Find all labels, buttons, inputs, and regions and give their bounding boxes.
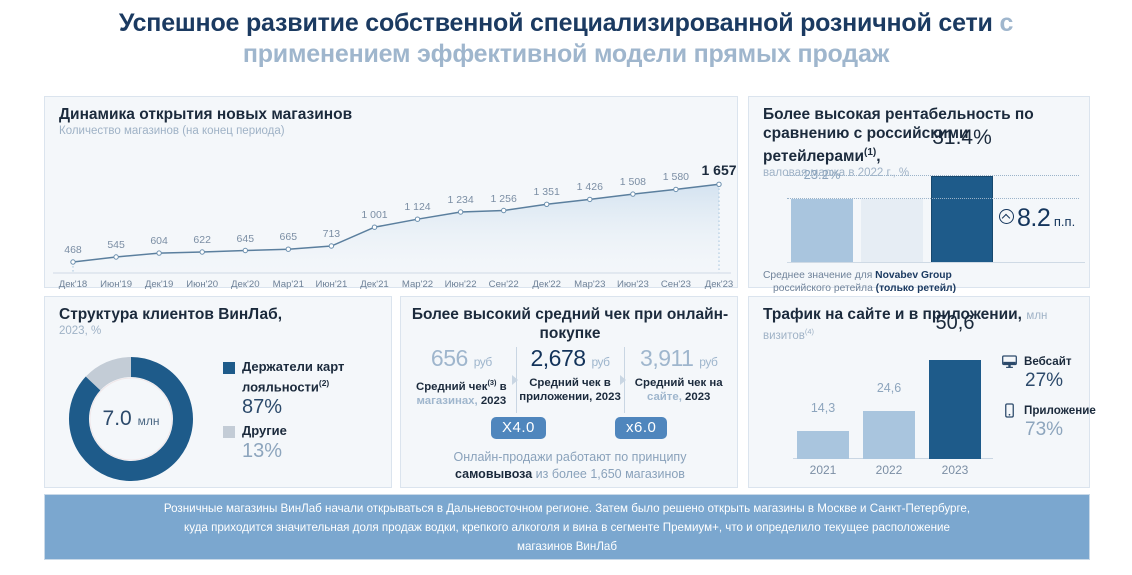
margin-bar xyxy=(791,199,853,263)
margin-axis-line xyxy=(787,262,1085,263)
monitor-icon xyxy=(1001,353,1018,370)
legend-item: Вебсайт xyxy=(1001,353,1089,370)
x-axis-tick: Дек'21 xyxy=(360,279,389,290)
line-point-label: 1 508 xyxy=(620,176,646,188)
traffic-bar-label: 24,6 xyxy=(877,381,901,395)
check-footer-b: самовывоза xyxy=(455,467,532,481)
x-axis-tick: Дек'22 xyxy=(532,279,561,290)
margin-footnote-c: (только ретейл) xyxy=(876,283,956,294)
check-column-stores: 656 руб Средний чек(3) в магазинах, 2023 xyxy=(407,345,516,408)
margin-delta: 8.2 п.п. xyxy=(999,204,1075,233)
line-point-label: 604 xyxy=(150,235,168,247)
x-axis-tick: Июн'23 xyxy=(617,279,649,290)
line-point-label: 645 xyxy=(237,233,255,245)
bottom-banner: Розничные магазины ВинЛаб начали открыва… xyxy=(44,494,1090,560)
margin-footnote-a: Среднее значение для xyxy=(763,270,875,281)
donut-center-unit: млн xyxy=(138,414,160,428)
panel-gross-margin: Более высокая рентабельность по сравнени… xyxy=(748,96,1090,288)
traffic-bar-label: 14,3 xyxy=(811,401,835,415)
line-point-label: 1 001 xyxy=(361,209,387,221)
chevron-up-circle-icon xyxy=(999,209,1014,224)
margin-bar xyxy=(931,176,993,263)
check-caption-site-c: сайте, xyxy=(647,391,685,403)
check-year-stores: 2023 xyxy=(481,395,506,407)
margin-bar-label: 31.4% xyxy=(932,126,992,150)
x-axis-tick: Сен'22 xyxy=(489,279,519,290)
check-caption-stores-b: в xyxy=(497,381,507,393)
check-multiplier-badges: X4.0 x6.0 xyxy=(407,417,733,441)
x-axis-tick: Июн'22 xyxy=(445,279,477,290)
line-point-label: 1 256 xyxy=(491,193,517,205)
average-check-header: Более высокий средний чек при онлайн-пок… xyxy=(411,305,729,343)
x-axis-tick: Дек'19 xyxy=(145,279,174,290)
check-caption-site-a: Средний чек на xyxy=(635,377,723,389)
traffic-header: Трафик на сайте и в приложении, млн визи… xyxy=(763,305,1079,344)
banner-line-2: куда приходится значительная доля продаж… xyxy=(164,518,970,537)
gross-margin-footnote: Среднее значение для Novabev Group росси… xyxy=(763,269,1081,295)
check-amount-site: 3,911 xyxy=(640,345,693,371)
x-axis-tick: Мар'21 xyxy=(273,279,304,290)
x-axis-tick: Июн'21 xyxy=(315,279,347,290)
line-point-label: 622 xyxy=(193,234,211,246)
traffic-legend-label-app: Приложение xyxy=(1024,404,1096,417)
legend-label-loyalty-1: Держатели карт xyxy=(242,359,344,374)
client-structure-header: Структура клиентов ВинЛаб, 2023, % xyxy=(59,305,282,339)
client-structure-title: Структура клиентов ВинЛаб, xyxy=(59,305,282,324)
arrow-right-icon xyxy=(620,375,626,385)
line-point-label: 1 426 xyxy=(577,181,603,193)
traffic-year-tick: 2023 xyxy=(942,463,969,477)
average-check-columns: 656 руб Средний чек(3) в магазинах, 2023… xyxy=(407,345,733,408)
panel-traffic: Трафик на сайте и в приложении, млн визи… xyxy=(748,296,1090,488)
margin-footnote-b: российского ретейла xyxy=(773,283,876,294)
average-check-footer: Онлайн-продажи работают по принципу само… xyxy=(415,449,725,483)
x-axis-tick: Дек'20 xyxy=(231,279,260,290)
store-dynamics-header: Динамика открытия новых магазинов Количе… xyxy=(59,105,352,139)
line-point-label: 1 657 xyxy=(701,162,736,178)
phone-icon xyxy=(1001,402,1018,419)
x-axis-tick: Мар'23 xyxy=(574,279,605,290)
x-axis-tick: Дек'23 xyxy=(705,279,734,290)
line-point-label: 1 351 xyxy=(534,186,560,198)
donut-center-value: 7.0 xyxy=(103,407,132,430)
legend-label-other: Другие xyxy=(242,423,287,439)
store-dynamics-chart: 4685456046226456657131 0011 1241 2341 25… xyxy=(53,145,731,277)
margin-delta-unit: п.п. xyxy=(1054,214,1075,229)
footnote-marker-1: (1) xyxy=(864,147,876,158)
check-footer-a: Онлайн-продажи работают по принципу xyxy=(454,450,687,464)
reference-line xyxy=(787,175,1079,176)
traffic-legend-value-app: 73% xyxy=(1025,419,1089,441)
badge-multiplier-app: X4.0 xyxy=(491,417,546,439)
traffic-year-labels: 202120222023 xyxy=(793,463,993,479)
line-chart-x-axis: Дек'18Июн'19Дек'19Июн'20Дек'20Мар'21Июн'… xyxy=(53,279,731,293)
legend-item: Держатели карт лояльности(2) xyxy=(223,359,383,395)
x-axis-tick: Июн'20 xyxy=(186,279,218,290)
badge-multiplier-site: x6.0 xyxy=(615,417,667,439)
client-structure-legend: Держатели карт лояльности(2) 87% Другие … xyxy=(223,359,383,467)
line-point-label: 713 xyxy=(323,228,341,240)
x-axis-tick: Дек'18 xyxy=(59,279,88,290)
line-chart-value-labels: 4685456046226456657131 0011 1241 2341 25… xyxy=(53,145,731,277)
legend-swatch-loyalty xyxy=(223,362,235,374)
panel-average-check: Более высокий средний чек при онлайн-пок… xyxy=(400,296,738,488)
line-point-label: 1 234 xyxy=(447,194,473,206)
traffic-bar xyxy=(929,360,981,459)
legend-label-loyalty-2: лояльности xyxy=(242,379,319,394)
client-structure-donut: 7.0 млн xyxy=(67,355,195,483)
check-year-site: 2023 xyxy=(685,391,710,403)
traffic-bars: 14,324,650,6 xyxy=(793,349,993,459)
check-amount-app: 2,678 xyxy=(531,345,586,371)
store-dynamics-title: Динамика открытия новых магазинов xyxy=(59,105,352,124)
average-check-title: Более высокий средний чек при онлайн-пок… xyxy=(411,305,729,343)
x-axis-tick: Сен'23 xyxy=(661,279,691,290)
check-unit-stores: руб xyxy=(474,355,492,369)
x-axis-tick: Июн'19 xyxy=(100,279,132,290)
client-structure-subtitle: 2023, % xyxy=(59,324,282,339)
check-caption-app-c: приложении, xyxy=(519,391,595,403)
traffic-bar xyxy=(863,411,915,459)
legend-item: Другие xyxy=(223,423,383,439)
footnote-marker-2: (2) xyxy=(319,378,329,388)
panel-client-structure: Структура клиентов ВинЛаб, 2023, % 7.0 м… xyxy=(44,296,392,488)
check-year-app: 2023 xyxy=(595,391,620,403)
footnote-marker-4: (4) xyxy=(805,327,814,336)
traffic-legend-label-website: Вебсайт xyxy=(1024,355,1072,368)
line-point-label: 468 xyxy=(64,244,82,256)
traffic-legend-value-website: 27% xyxy=(1025,370,1089,392)
x-axis-tick: Мар'22 xyxy=(402,279,433,290)
traffic-bar xyxy=(797,431,849,459)
check-amount-stores: 656 xyxy=(431,345,468,371)
page-title-strong: Успешное развитие собственной специализи… xyxy=(119,9,993,37)
line-point-label: 665 xyxy=(280,231,298,243)
line-point-label: 1 124 xyxy=(404,201,430,213)
margin-bar xyxy=(861,199,923,263)
line-point-label: 1 580 xyxy=(663,171,689,183)
check-caption-stores-c: магазинах, xyxy=(416,395,480,407)
check-footer-c: из более 1,650 магазинов xyxy=(532,467,685,481)
legend-item: Приложение xyxy=(1001,402,1089,419)
reference-line xyxy=(787,198,1079,199)
traffic-year-tick: 2021 xyxy=(810,463,837,477)
gross-margin-bars: 8.2 п.п. 23.2%31.4% xyxy=(787,163,1079,263)
banner-line-3: магазинов ВинЛаб xyxy=(164,537,970,556)
check-caption-app-a: Средний чек в xyxy=(529,377,611,389)
check-column-app: 2,678 руб Средний чек в приложении, 2023 xyxy=(516,345,625,408)
check-caption-stores-a: Средний чек xyxy=(416,381,487,393)
page-title: Успешное развитие собственной специализи… xyxy=(56,8,1076,70)
margin-footnote-brand: Novabev Group xyxy=(875,270,952,281)
store-dynamics-subtitle: Количество магазинов (на конец периода) xyxy=(59,124,352,139)
legend-swatch-other xyxy=(223,426,235,438)
check-column-site: 3,911 руб Средний чек на сайте, 2023 xyxy=(624,345,733,408)
traffic-title: Трафик на сайте и в приложении, xyxy=(763,306,1022,323)
traffic-year-tick: 2022 xyxy=(876,463,903,477)
legend-value-loyalty: 87% xyxy=(242,396,383,419)
panel-store-dynamics: Динамика открытия новых магазинов Количе… xyxy=(44,96,738,288)
traffic-bar-label: 50,6 xyxy=(936,312,975,335)
line-point-label: 545 xyxy=(107,239,125,251)
margin-delta-value: 8.2 xyxy=(1017,204,1050,232)
legend-value-other: 13% xyxy=(242,440,383,463)
banner-line-1: Розничные магазины ВинЛаб начали открыва… xyxy=(164,499,970,518)
check-unit-app: руб xyxy=(591,355,609,369)
gross-margin-title-line1: Более высокая рентабельность по xyxy=(763,106,1034,123)
check-unit-site: руб xyxy=(699,355,717,369)
traffic-legend: Вебсайт 27% Приложение 73% xyxy=(1001,353,1089,451)
footnote-marker-3: (3) xyxy=(487,378,496,387)
arrow-right-icon xyxy=(512,375,518,385)
slide: Успешное развитие собственной специализи… xyxy=(0,0,1132,575)
